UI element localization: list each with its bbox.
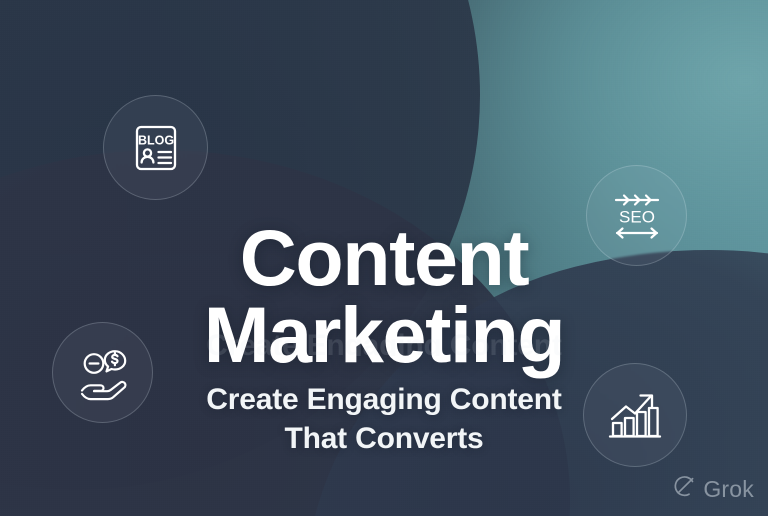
badge-growth[interactable] — [583, 363, 687, 467]
badge-blog[interactable]: BLOG — [103, 95, 208, 200]
svg-text:BLOG: BLOG — [137, 133, 173, 147]
grok-logo-icon — [672, 475, 696, 504]
content-marketing-banner: Content Marketing Create Engaging Conten… — [0, 0, 768, 516]
blog-card-icon: BLOG — [128, 120, 184, 176]
growth-bar-chart-icon — [606, 386, 664, 444]
badge-seo[interactable]: SEO — [586, 165, 687, 266]
hand-coin-dollar-icon — [74, 344, 132, 402]
grok-watermark-label: Grok — [703, 476, 754, 503]
svg-text:SEO: SEO — [619, 207, 655, 226]
badge-monetization[interactable] — [52, 322, 153, 423]
grok-watermark: Grok — [672, 475, 754, 504]
subtitle-ghost-artifact: Create Engaging Content — [64, 326, 704, 356]
seo-arrows-icon: SEO — [608, 187, 666, 245]
